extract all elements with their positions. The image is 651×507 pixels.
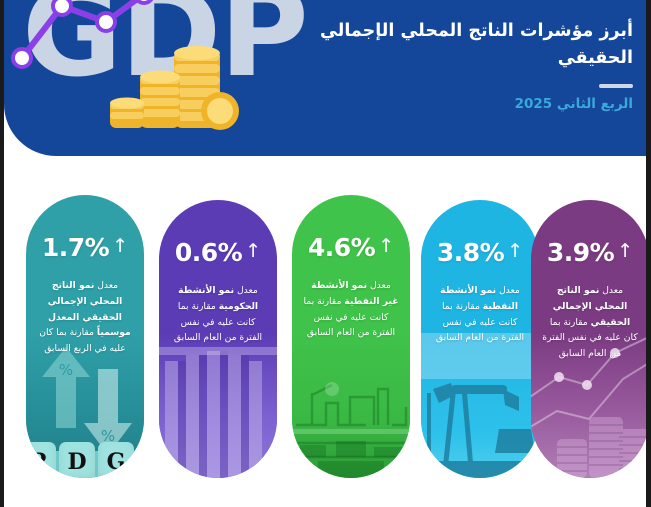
period-subtitle: الربع الثاني 2025 xyxy=(303,96,633,112)
trend-up-icon: ↑ xyxy=(507,242,523,261)
indicator-card-real-gdp-seasonally-adjusted[interactable]: % % G D P ↑ 1.7% xyxy=(26,195,144,478)
gdp-letter-blocks: G D P xyxy=(26,442,134,478)
trend-up-icon: ↑ xyxy=(245,242,261,261)
value-row: ↑ 3.8% xyxy=(432,238,528,267)
gdp-block-letter: G xyxy=(98,442,134,478)
trend-up-icon: ↑ xyxy=(378,237,394,256)
indicator-description: معدل نمو الأنشطة الحكومية مقارنة بما كان… xyxy=(170,283,266,346)
indicator-value: 4.6% xyxy=(308,233,375,262)
indicator-value: 3.8% xyxy=(437,238,504,267)
gdp-block-letter: D xyxy=(59,442,95,478)
indicator-description: معدل نمو الناتج المحلي الإجمالي الحقيقي … xyxy=(37,278,133,357)
title-divider xyxy=(599,84,633,88)
value-row: ↑ 1.7% xyxy=(37,233,133,262)
indicator-value: 1.7% xyxy=(42,233,109,262)
indicator-card-real-gdp-annual[interactable]: ↑ 3.9% معدل نمو الناتج المحلي الإجمالي ا… xyxy=(531,200,649,478)
card-art-factory xyxy=(292,333,410,478)
card-art-oil-pump xyxy=(421,333,539,478)
indicator-description: معدل نمو الأنشطة غير النفطية مقارنة بما … xyxy=(303,278,399,341)
indicator-cards: % % G D P ↑ 1.7% xyxy=(4,160,651,507)
indicator-description: معدل نمو الناتج المحلي الإجمالي الحقيقي … xyxy=(542,283,638,362)
card-art-columns xyxy=(159,333,277,478)
trend-up-icon: ↑ xyxy=(112,237,128,256)
desc-lead: معدل xyxy=(234,285,258,296)
indicator-card-government-activities[interactable]: ↑ 0.6% معدل نمو الأنشطة الحكومية مقارنة … xyxy=(159,200,277,478)
infographic-canvas: GDP xyxy=(0,0,651,507)
indicator-value: 0.6% xyxy=(175,238,242,267)
value-row: ↑ 3.9% xyxy=(542,238,638,267)
svg-text:%: % xyxy=(59,361,73,379)
trend-up-icon: ↑ xyxy=(617,242,633,261)
desc-lead: معدل xyxy=(496,285,520,296)
page-title: أبرز مؤشرات الناتج المحلي الإجمالي الحقي… xyxy=(303,18,633,72)
indicator-card-oil-activities[interactable]: ↑ 3.8% معدل نمو الأنشطة النفطية مقارنة ب… xyxy=(421,200,539,478)
indicator-description: معدل نمو الأنشطة النفطية مقارنة بما كانت… xyxy=(432,283,528,346)
indicator-value: 3.9% xyxy=(547,238,614,267)
coin-stacks-icon xyxy=(108,38,248,138)
desc-lead: معدل xyxy=(599,285,623,296)
desc-lead: معدل xyxy=(367,280,391,291)
value-row: ↑ 0.6% xyxy=(170,238,266,267)
header-panel: GDP xyxy=(4,0,651,156)
value-row: ↑ 4.6% xyxy=(303,233,399,262)
indicator-card-non-oil-activities[interactable]: ↑ 4.6% معدل نمو الأنشطة غير النفطية مقار… xyxy=(292,195,410,478)
gdp-block-letter: P xyxy=(26,442,56,478)
desc-lead: معدل xyxy=(94,280,118,291)
